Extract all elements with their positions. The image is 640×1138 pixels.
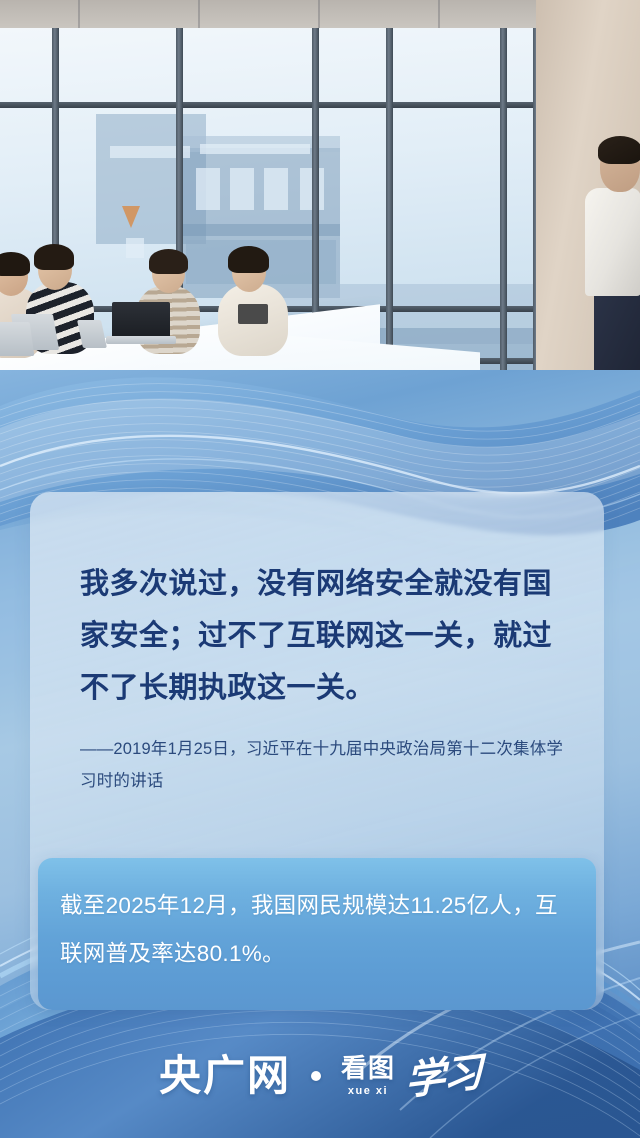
laptop-screen	[0, 322, 34, 356]
column-logo[interactable]: 看图 xue xi	[341, 1055, 395, 1097]
attendee-shirt-print	[238, 304, 268, 324]
quote-attribution: ——2019年1月25日，习近平在十九届中央政治局第十二次集体学习时的讲话	[80, 733, 568, 797]
window-mullion	[0, 102, 540, 108]
laptop-base	[106, 336, 176, 344]
meeting-room-photo	[0, 0, 640, 420]
outside-window	[126, 238, 144, 258]
statistic-box: 截至2025年12月，我国网民规模达11.25亿人，互联网普及率达80.1%。	[38, 858, 596, 1010]
attendee-hair	[0, 252, 30, 276]
footer: 央广网 看图 xue xi 学习	[0, 1028, 640, 1138]
outside-railing	[200, 144, 310, 154]
column-label: 看图	[341, 1055, 395, 1081]
standing-person-shirt	[585, 188, 640, 296]
attendee-hair	[149, 249, 188, 274]
traffic-cone	[122, 206, 140, 228]
poster-root: 我多次说过，没有网络安全就没有国家安全；过不了互联网这一关，就过不了长期执政这一…	[0, 0, 640, 1138]
laptop-screen	[112, 302, 170, 338]
attendee-hair	[228, 246, 269, 273]
outside-window	[264, 168, 288, 210]
attendee-hair	[34, 244, 74, 270]
window-mullion	[500, 28, 507, 420]
footer-logo-row: 央广网 看图 xue xi 学习	[0, 1050, 640, 1102]
quote-text: 我多次说过，没有网络安全就没有国家安全；过不了互联网这一关，就过不了长期执政这一…	[80, 558, 558, 714]
outside-window	[230, 168, 254, 210]
calligraphy-xuexi: 学习	[405, 1039, 481, 1107]
column-pinyin: xue xi	[348, 1086, 388, 1097]
separator-dot-icon	[311, 1071, 321, 1081]
statistic-text: 截至2025年12月，我国网民规模达11.25亿人，互联网普及率达80.1%。	[60, 882, 580, 978]
outside-window	[196, 168, 220, 210]
brand-logo-text[interactable]: 央广网	[159, 1055, 291, 1097]
standing-person-hair	[598, 136, 640, 164]
